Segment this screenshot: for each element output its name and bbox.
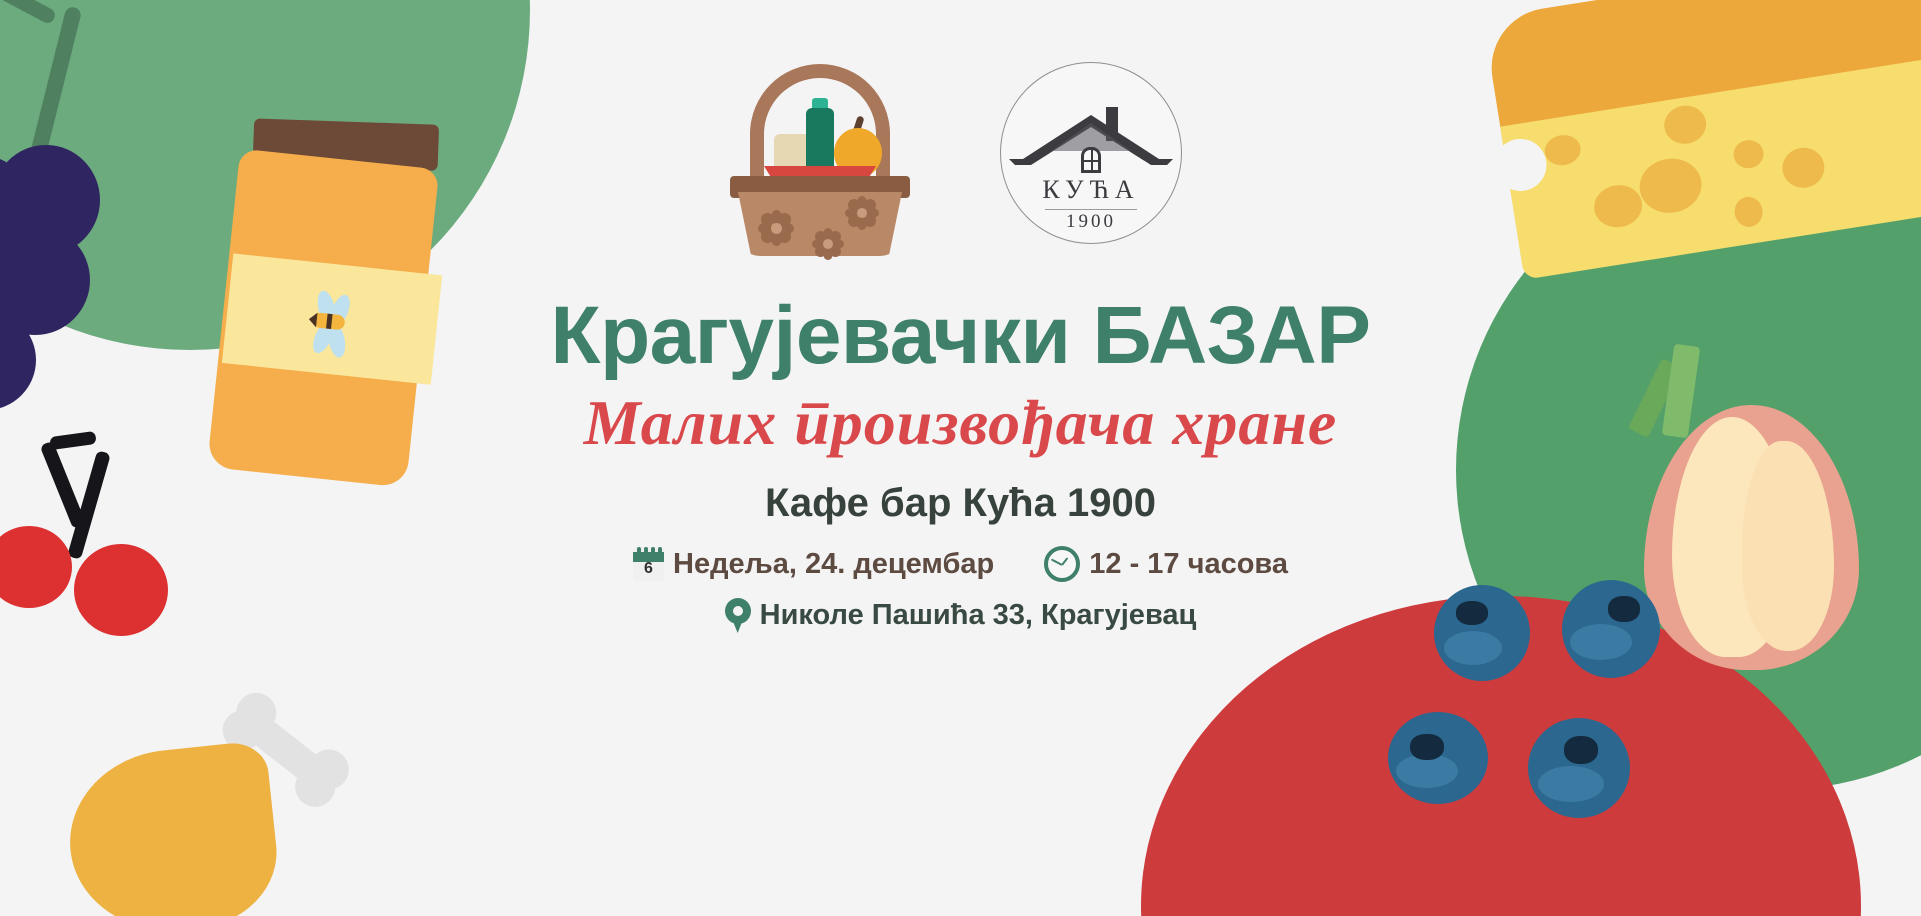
event-time: 12 - 17 часова xyxy=(1089,548,1288,581)
poster-content: Крагујевачки БАЗАР Малих произвођача хра… xyxy=(0,0,1921,633)
page-subtitle: Малих произвођача хране xyxy=(0,391,1921,455)
calendar-day: 6 xyxy=(633,560,664,578)
ham-meat xyxy=(61,740,284,916)
location-pin-icon xyxy=(725,598,751,633)
venue-name: Кафе бар Кућа 1900 xyxy=(0,481,1921,526)
address-item: Николе Пашића 33, Крагујевац xyxy=(725,598,1197,633)
clock-icon xyxy=(1044,546,1080,582)
event-poster: КУЋА 1900 Крагујевачки БАЗАР Малих произ… xyxy=(0,0,1921,916)
date-item: 6 Недеља, 24. децембар xyxy=(633,547,994,581)
page-title: Крагујевачки БАЗАР xyxy=(0,295,1921,377)
address-row: Николе Пашића 33, Крагујевац xyxy=(0,598,1921,633)
event-address: Николе Пашића 33, Крагујевац xyxy=(760,599,1197,632)
time-item: 12 - 17 часова xyxy=(1044,546,1288,582)
date-time-row: 6 Недеља, 24. децембар 12 - 17 часова xyxy=(0,546,1921,582)
ham-illustration xyxy=(70,690,370,916)
calendar-icon: 6 xyxy=(633,547,664,581)
event-date: Недеља, 24. децембар xyxy=(673,548,994,581)
